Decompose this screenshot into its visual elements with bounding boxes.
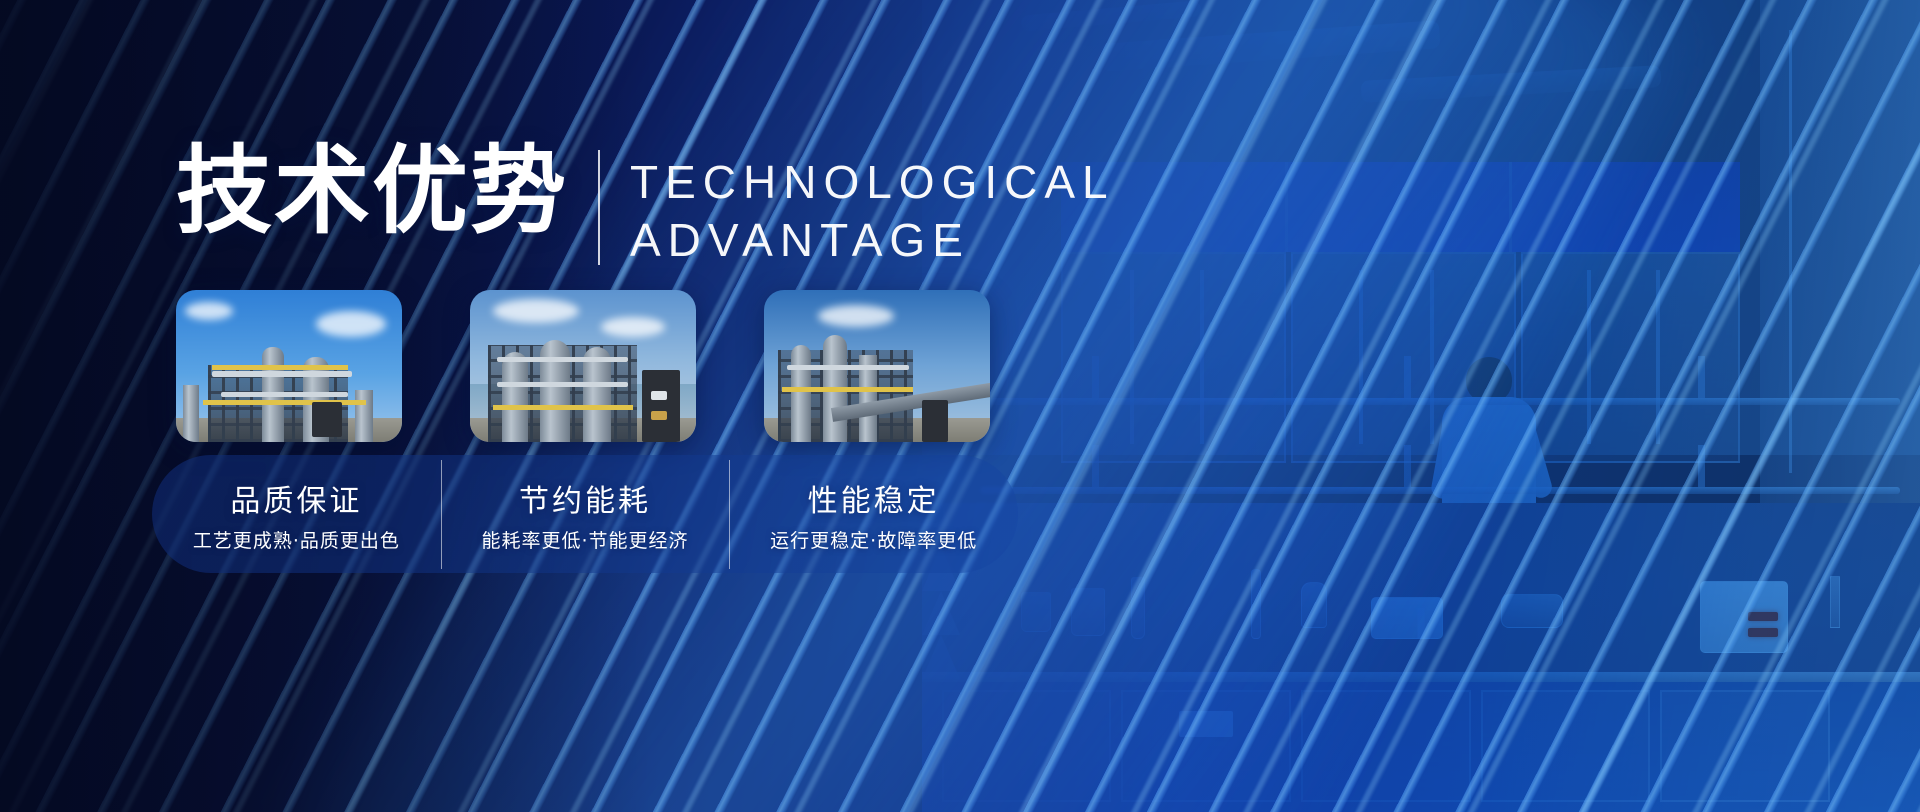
evaporation-plant-structure [470,317,696,442]
distillation-plant-structure [764,317,990,442]
chemical-plant-structure [176,317,402,442]
page-title-english-line1: TECHNOLOGICAL [630,154,1115,212]
title-divider [598,150,600,265]
technological-advantage-banner: 技术优势 TECHNOLOGICAL ADVANTAGE [0,0,1920,812]
feature-subtitle: 运行更稳定·故障率更低 [737,526,1010,553]
banner-content: 技术优势 TECHNOLOGICAL ADVANTAGE [0,0,1920,812]
photo-card-2[interactable] [470,290,696,442]
feature-subtitle: 工艺更成熟·品质更出色 [160,526,433,553]
page-title-chinese: 技术优势 [176,140,568,244]
feature-list-panel: 品质保证 工艺更成熟·品质更出色 节约能耗 能耗率更低·节能更经济 性能稳定 运… [152,455,1018,573]
photo-card-3[interactable] [764,290,990,442]
feature-subtitle: 能耗率更低·节能更经济 [449,526,722,553]
photo-card-1[interactable] [176,290,402,442]
feature-item-stability[interactable]: 性能稳定 运行更稳定·故障率更低 [729,476,1018,553]
feature-title: 品质保证 [160,476,433,520]
photo-card-list [176,290,990,442]
page-title-english-line2: ADVANTAGE [630,212,1115,270]
feature-title: 节约能耗 [449,476,722,520]
page-title-english: TECHNOLOGICAL ADVANTAGE [630,154,1115,269]
feature-item-quality[interactable]: 品质保证 工艺更成熟·品质更出色 [152,476,441,553]
banner-headline: 技术优势 TECHNOLOGICAL ADVANTAGE [176,140,1115,269]
feature-item-energy[interactable]: 节约能耗 能耗率更低·节能更经济 [441,476,730,553]
feature-title: 性能稳定 [737,476,1010,520]
